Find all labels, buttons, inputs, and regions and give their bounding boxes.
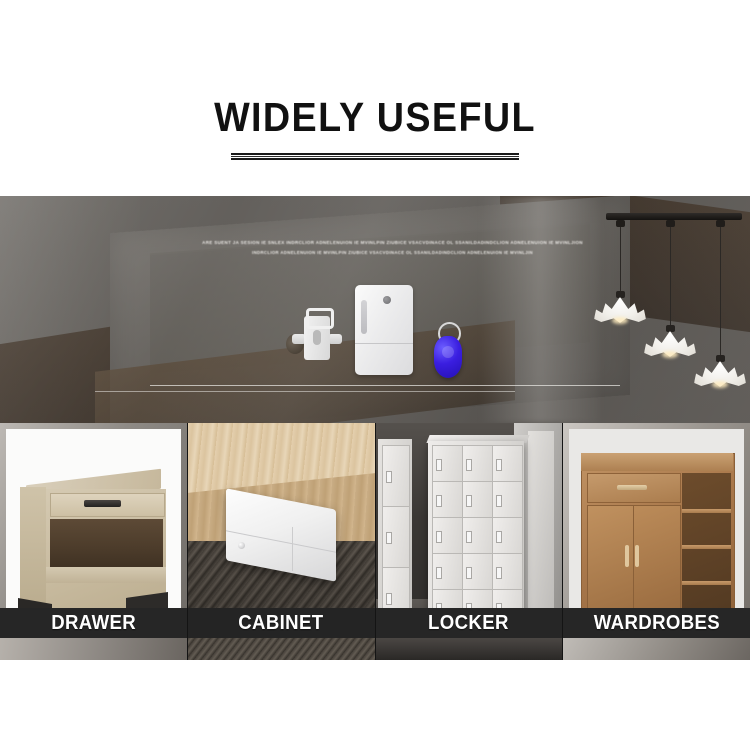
- wardrobe-shelf-board: [682, 581, 731, 585]
- cabinet-rfid-lock-divider: [292, 527, 293, 571]
- lamp-neck-2: [666, 325, 675, 332]
- locker-cell: [462, 517, 493, 554]
- locker-cell: [432, 553, 463, 590]
- module-slot: [361, 300, 367, 334]
- caption-bar-wardrobes: WARDROBES: [563, 608, 750, 638]
- nightstand-shelf-board: [46, 567, 166, 583]
- wardrobe-shelf-board: [682, 509, 731, 513]
- page-title: WIDELY USEFUL: [30, 95, 720, 139]
- wardrobe-drawer-handle: [617, 485, 647, 490]
- wardrobe-top-shelf: [581, 453, 733, 471]
- locker-cell: [492, 517, 523, 554]
- wardrobe-open-shelving: [682, 473, 731, 613]
- locker-cell: [462, 553, 493, 590]
- locker-cell: [492, 481, 523, 518]
- lamp-cap-1: [616, 220, 625, 227]
- lamp-cord-3: [720, 227, 721, 357]
- cabinet-lock-latch: [290, 308, 344, 360]
- hero-rule-top: [150, 385, 620, 386]
- caption-label-wardrobes: WARDROBES: [593, 612, 719, 635]
- wardrobe-door-handle-left: [625, 545, 629, 567]
- lamp-glow-2: [662, 351, 678, 358]
- wardrobe-door-handle-right: [635, 545, 639, 567]
- hero-rule-bottom: [95, 391, 515, 392]
- nightstand-open-shelf: [50, 519, 163, 571]
- divider-line-2: [231, 156, 519, 157]
- lock-wing-right: [328, 334, 342, 344]
- rfid-key-fob: [432, 322, 464, 378]
- locker-cell: [492, 553, 523, 590]
- locker-cell: [432, 445, 463, 482]
- nightstand-drawer-handle: [84, 500, 121, 507]
- caption-bar-locker: LOCKER: [376, 608, 563, 638]
- locker-side-cell: [382, 506, 410, 568]
- header-section: WIDELY USEFUL: [0, 0, 750, 196]
- nightstand-side-panel: [20, 487, 46, 615]
- lamp-glow-3: [712, 381, 728, 388]
- caption-label-locker: LOCKER: [428, 612, 509, 635]
- rfid-control-module: [355, 285, 413, 375]
- lamp-cord-1: [620, 227, 621, 293]
- locker-right-panel: [528, 431, 554, 631]
- application-thumbnail-strip: DRAWER CABINET: [0, 423, 750, 660]
- hero-divider-rules: [150, 385, 620, 392]
- caption-label-cabinet: CABINET: [238, 612, 323, 635]
- divider-line-1: [231, 153, 519, 155]
- locker-cell: [462, 445, 493, 482]
- lamp-glow-1: [612, 317, 628, 324]
- cabinet-rfid-lock-screw: [238, 542, 245, 549]
- caption-bar-drawer: DRAWER: [0, 608, 187, 638]
- lock-hook: [306, 308, 334, 329]
- locker-side-cell: [382, 445, 410, 507]
- thumbnail-wardrobes[interactable]: WARDROBES: [563, 423, 750, 660]
- hero-caption-text: ARE SUENT JA SESION IE SNLEX INDRCLIOR A…: [195, 238, 590, 258]
- wardrobe-shelf-board: [682, 545, 731, 549]
- hero-caption-line-1: ARE SUENT JA SESION IE SNLEX INDRCLIOR A…: [191, 238, 594, 248]
- divider-line-3: [231, 158, 519, 160]
- locker-cell: [462, 481, 493, 518]
- cabinet-photo-sliver: [188, 638, 375, 660]
- keyfob-body: [434, 336, 462, 378]
- hero-caption-line-2: INDRCLIOR ADNELENUION IE MVINLPIN ZIUBIC…: [191, 248, 594, 258]
- lamp-cord-2: [670, 227, 671, 327]
- lamp-mount-bar: [606, 213, 742, 220]
- title-divider: [231, 153, 519, 162]
- caption-label-drawer: DRAWER: [51, 612, 136, 635]
- lamp-cap-2: [666, 220, 675, 227]
- pendant-lamp-group: [600, 205, 750, 400]
- locker-cell: [492, 445, 523, 482]
- wardrobe-photo-sliver: [563, 638, 750, 660]
- drawer-photo-sliver: [0, 638, 187, 660]
- thumbnail-locker[interactable]: LOCKER: [376, 423, 564, 660]
- thumbnail-drawer[interactable]: DRAWER: [0, 423, 188, 660]
- lock-keyhole: [313, 330, 321, 345]
- thumbnail-cabinet[interactable]: CABINET: [188, 423, 376, 660]
- lamp-cap-3: [716, 220, 725, 227]
- wardrobe-door-right: [633, 505, 681, 615]
- lamp-neck-1: [616, 291, 625, 298]
- locker-cell: [432, 481, 463, 518]
- locker-cell: [432, 517, 463, 554]
- locker-photo-sliver: [376, 638, 563, 660]
- module-screw: [383, 296, 391, 304]
- caption-bar-cabinet: CABINET: [188, 608, 375, 638]
- module-seam: [355, 343, 413, 344]
- lamp-neck-3: [716, 355, 725, 362]
